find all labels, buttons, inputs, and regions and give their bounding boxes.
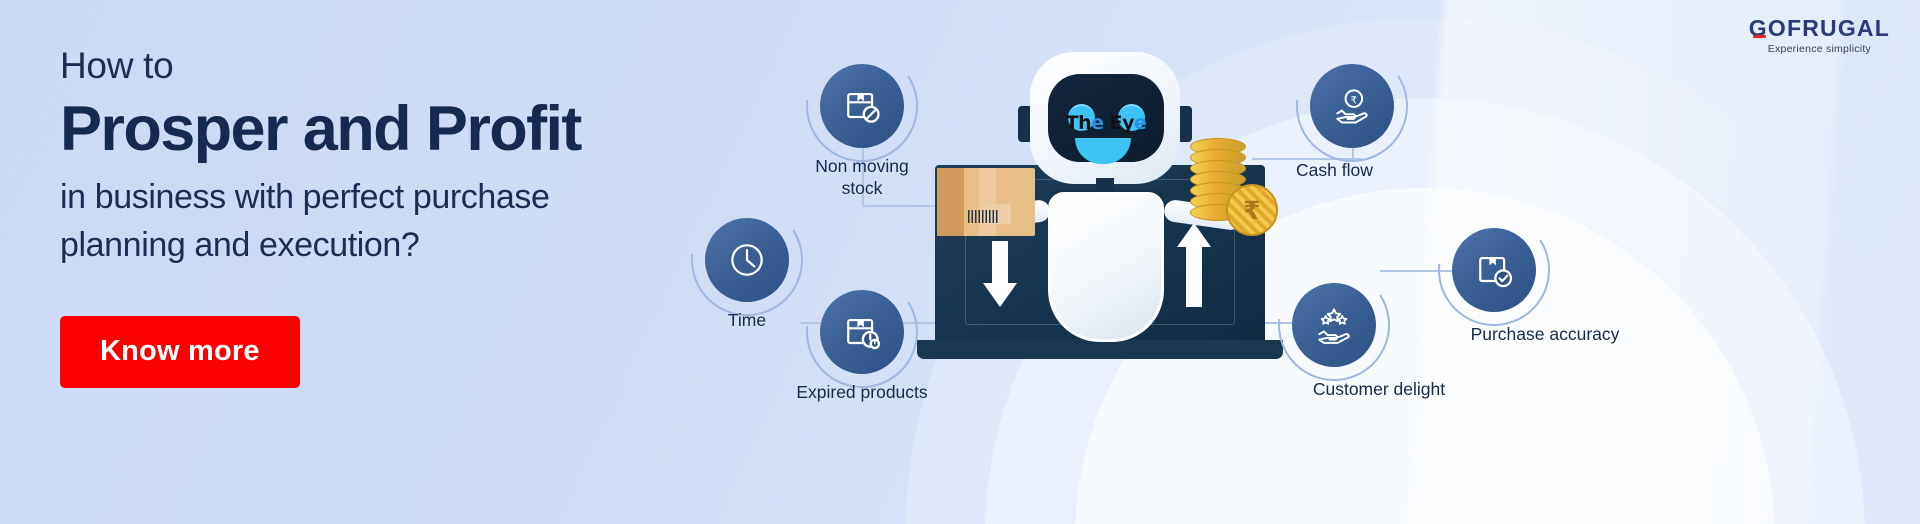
coin-stack-illustration: ₹ bbox=[1190, 138, 1274, 238]
robot-brand-part-4: e bbox=[1134, 112, 1146, 134]
laptop-base bbox=[917, 340, 1283, 359]
subhead-line-1: in business with perfect purchase bbox=[60, 173, 760, 221]
rupee-coin-icon: ₹ bbox=[1226, 184, 1278, 236]
feature-expired-products[interactable]: Expired products bbox=[820, 290, 904, 374]
hand-rupee-icon: ₹ bbox=[1330, 84, 1374, 128]
node-bubble bbox=[820, 290, 904, 374]
feature-label-purchase-accuracy: Purchase accuracy bbox=[1400, 324, 1690, 346]
robot-brand-part-2: e bbox=[1091, 112, 1103, 134]
hand-stars-icon bbox=[1312, 303, 1356, 347]
feature-label-customer-delight: Customer delight bbox=[1234, 379, 1524, 401]
kicker-text: How to bbox=[60, 46, 760, 87]
promo-banner: How to Prosper and Profit in business wi… bbox=[0, 0, 1920, 524]
know-more-button[interactable]: Know more bbox=[60, 316, 300, 388]
subhead-line-2: planning and execution? bbox=[60, 221, 760, 269]
feature-non-moving-stock[interactable]: Non moving stock bbox=[820, 64, 904, 148]
node-bubble bbox=[820, 64, 904, 148]
box-blocked-icon bbox=[840, 84, 884, 128]
logo-tagline: Experience simplicity bbox=[1749, 43, 1890, 55]
robot-brand-part-3: Ey bbox=[1104, 112, 1134, 134]
feature-label-cash-flow: Cash flow bbox=[1296, 160, 1476, 182]
logo-text: GOFRUGAL bbox=[1749, 17, 1890, 40]
logo-wordmark: GOFRUGAL bbox=[1749, 17, 1890, 40]
node-bubble bbox=[1292, 283, 1376, 367]
gofrugal-logo: GOFRUGAL Experience simplicity bbox=[1749, 17, 1890, 55]
box-clock-icon bbox=[840, 310, 884, 354]
svg-text:₹: ₹ bbox=[1351, 95, 1357, 106]
feature-label-expired-products: Expired products bbox=[754, 382, 970, 404]
feature-customer-delight[interactable]: Customer delight bbox=[1292, 283, 1376, 367]
node-bubble: ₹ bbox=[1310, 64, 1394, 148]
logo-accent-dash-icon bbox=[1753, 35, 1766, 39]
node-bubble bbox=[1452, 228, 1536, 312]
robot-brand-label: The Eye bbox=[1048, 112, 1164, 134]
headline-block: How to Prosper and Profit in business wi… bbox=[60, 46, 760, 388]
feature-purchase-accuracy[interactable]: Purchase accuracy bbox=[1452, 228, 1536, 312]
page-title: Prosper and Profit bbox=[60, 93, 760, 165]
box-tape bbox=[979, 168, 996, 236]
feature-cash-flow[interactable]: ₹ Cash flow bbox=[1310, 64, 1394, 148]
robot-body bbox=[1048, 192, 1164, 342]
box-check-icon bbox=[1472, 248, 1516, 292]
barcode-icon bbox=[968, 210, 998, 223]
robot-brand-part-1: Th bbox=[1066, 112, 1092, 134]
feature-label-non-moving-stock: Non moving stock bbox=[748, 156, 976, 200]
